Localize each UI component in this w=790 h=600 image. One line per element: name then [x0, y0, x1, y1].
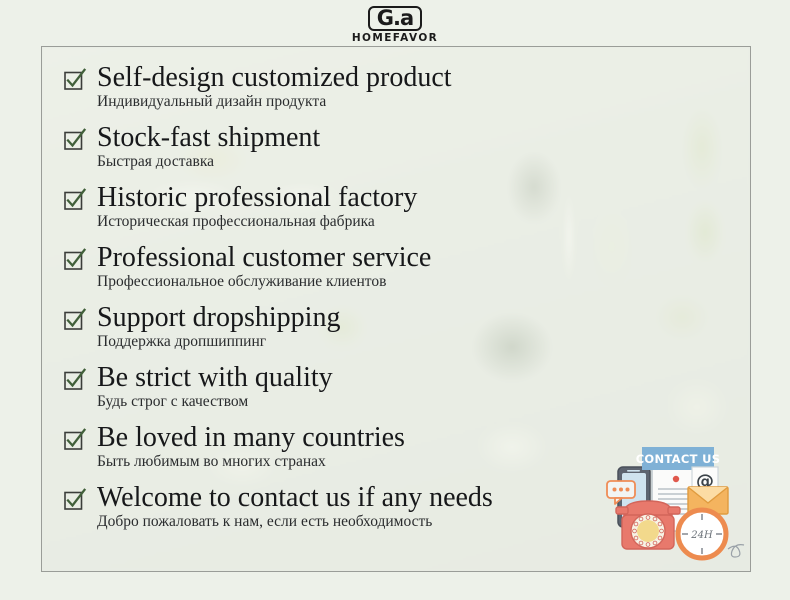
feature-title: Stock-fast shipment	[97, 121, 320, 154]
feature-subtitle: Индивидуальный дизайн продукта	[97, 93, 452, 111]
feature-title: Self-design customized product	[97, 61, 452, 94]
feature-title: Be strict with quality	[97, 361, 333, 394]
checkbox-checked-icon	[64, 429, 85, 450]
decorative-swirl-icon	[728, 545, 744, 557]
feature-title: Professional customer service	[97, 241, 431, 274]
feature-title: Welcome to contact us if any needs	[97, 481, 493, 514]
feature-subtitle: Поддержка дропшиппинг	[97, 333, 340, 351]
feature-subtitle: Будь строг с качеством	[97, 393, 333, 411]
checkbox-checked-icon	[64, 189, 85, 210]
checkbox-checked-icon	[64, 489, 85, 510]
logo-wordmark: HOMEFAVOR	[352, 32, 438, 44]
checkbox-checked-icon	[64, 249, 85, 270]
logo-mark: G.a	[368, 6, 422, 31]
feature-title: Support dropshipping	[97, 301, 340, 334]
checkbox-checked-icon	[64, 369, 85, 390]
feature-subtitle: Добро пожаловать к нам, если есть необхо…	[97, 513, 493, 531]
rotary-telephone-icon	[616, 501, 680, 549]
feature-subtitle: Быть любимым во многих странах	[97, 453, 405, 471]
brand-logo: G.a HOMEFAVOR	[0, 4, 790, 46]
feature-panel: Self-design customized product Индивидуа…	[41, 46, 751, 572]
checkbox-checked-icon	[64, 309, 85, 330]
feature-subtitle: Профессиональное обслуживание клиентов	[97, 273, 431, 291]
clock-label: 24H	[690, 530, 713, 541]
list-item: Support dropshipping Поддержка дропшиппи…	[64, 301, 750, 361]
list-item: Be strict with quality Будь строг с каче…	[64, 361, 750, 421]
feature-subtitle: Быстрая доставка	[97, 153, 320, 171]
contact-us-illustration: CONTACT US @	[602, 439, 750, 571]
contact-banner-label: CONTACT US	[636, 452, 721, 466]
24h-clock-icon: 24H	[678, 510, 726, 558]
feature-subtitle: Историческая профессиональная фабрика	[97, 213, 417, 231]
list-item: Historic professional factory Историческ…	[64, 181, 750, 241]
list-item: Stock-fast shipment Быстрая доставка	[64, 121, 750, 181]
feature-title: Historic professional factory	[97, 181, 417, 214]
list-item: Self-design customized product Индивидуа…	[64, 61, 750, 121]
list-item: Professional customer service Профессион…	[64, 241, 750, 301]
checkbox-checked-icon	[64, 129, 85, 150]
checkbox-checked-icon	[64, 69, 85, 90]
feature-title: Be loved in many countries	[97, 421, 405, 454]
